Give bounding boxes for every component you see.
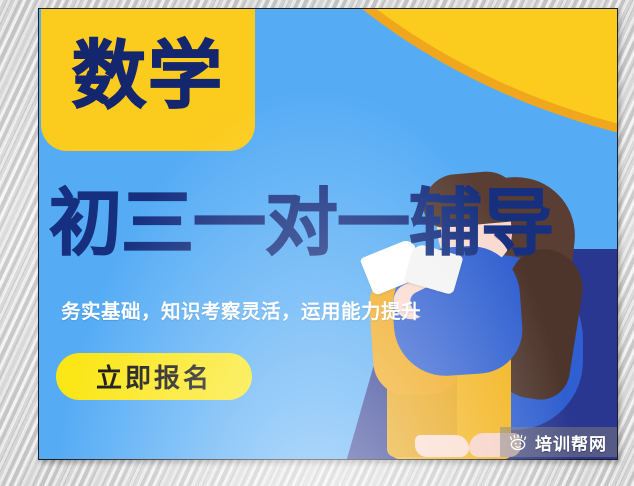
outer-frame: 数学 初三一对一辅导 务实基础，知识考察灵活，运用能力提升 立即报 bbox=[0, 0, 634, 486]
watermark-label: 培训帮网 bbox=[535, 430, 607, 455]
sun-face-icon bbox=[508, 432, 528, 452]
foot-left-shape bbox=[415, 435, 469, 457]
yellow-arc-shape bbox=[191, 8, 618, 151]
subject-badge-label: 数学 bbox=[72, 39, 224, 113]
signup-button[interactable]: 立即报名 bbox=[56, 353, 252, 400]
signup-button-label: 立即报名 bbox=[96, 358, 212, 395]
poster-canvas: 数学 初三一对一辅导 务实基础，知识考察灵活，运用能力提升 立即报 bbox=[38, 8, 618, 460]
watermark: 培训帮网 bbox=[500, 427, 617, 457]
page-title: 初三一对一辅导 bbox=[49, 187, 618, 260]
subject-badge: 数学 bbox=[41, 8, 255, 151]
subtitle-text: 务实基础，知识考察灵活，运用能力提升 bbox=[61, 302, 618, 322]
